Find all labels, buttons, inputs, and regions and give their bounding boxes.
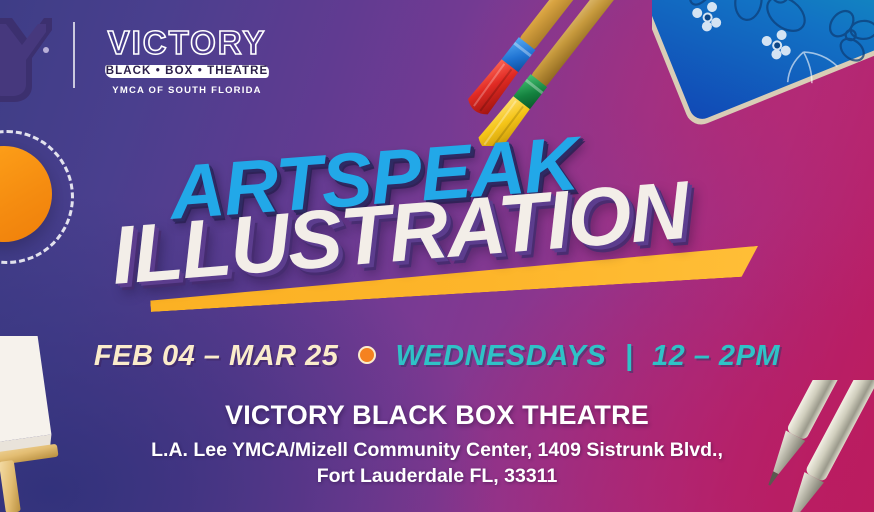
schedule-line: FEB 04 – MAR 25 WEDNESDAYS | 12 – 2PM [0,340,874,373]
poster-canvas: YMCA VICTORY BLACK • BOX • THEATRE YMCA … [0,0,874,512]
event-days: WEDNESDAYS [395,340,606,372]
venue-name: VICTORY BLACK BOX THEATRE [0,400,874,431]
schedule-separator: | [625,340,634,372]
venue-address: L.A. Lee YMCA/Mizell Community Center, 1… [0,437,874,489]
event-time: 12 – 2PM [652,340,780,372]
headline-group: ARTSPEAK ILLUSTRATION [0,0,874,330]
venue-address-line-2: Fort Lauderdale FL, 33311 [0,463,874,489]
venue-address-line-1: L.A. Lee YMCA/Mizell Community Center, 1… [0,437,874,463]
separator-dot-icon [358,346,376,364]
event-dates: FEB 04 – MAR 25 [94,340,338,372]
